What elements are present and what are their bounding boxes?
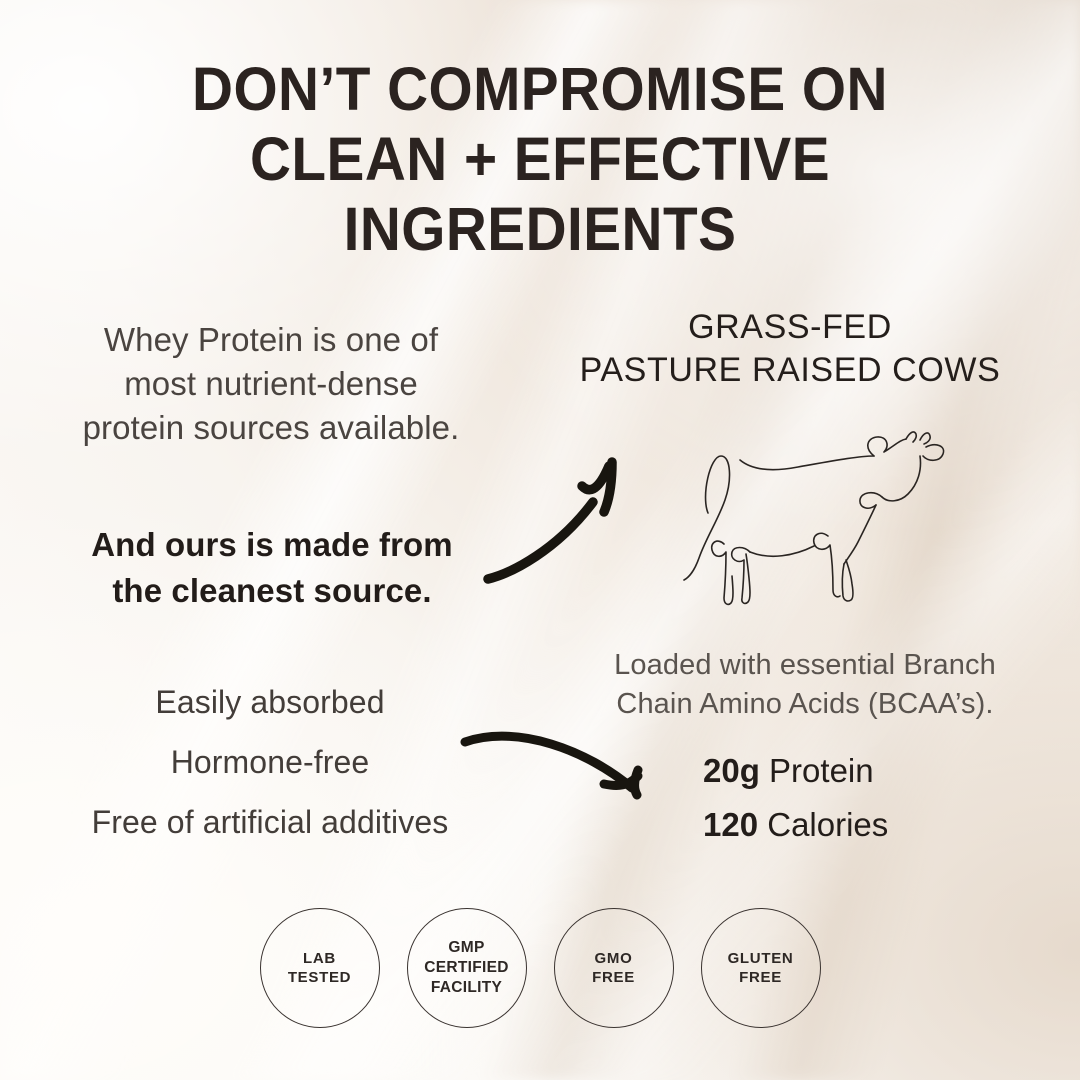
protein-label: Protein xyxy=(769,752,874,789)
arrow-down-right-icon xyxy=(432,712,677,822)
badge-gmo-free[interactable]: GMO FREE xyxy=(554,908,674,1028)
cleanest-source-line-2: the cleanest source. xyxy=(42,568,502,614)
badge-gmp-certified-facility[interactable]: GMP CERTIFIED FACILITY xyxy=(407,908,527,1028)
page-title: DON’T COMPROMISE ON CLEAN + EFFECTIVE IN… xyxy=(38,54,1042,264)
cleanest-source-line-1: And ours is made from xyxy=(42,522,502,568)
arrow-up-right-icon xyxy=(462,440,662,600)
infographic-canvas: DON’T COMPROMISE ON CLEAN + EFFECTIVE IN… xyxy=(0,0,1080,1080)
badge-lab-tested[interactable]: LAB TESTED xyxy=(260,908,380,1028)
certification-badges: LAB TESTED GMP CERTIFIED FACILITY GMO FR… xyxy=(0,908,1080,1028)
bcaa-line-1: Loaded with essential Branch xyxy=(570,646,1040,685)
headline-line-3: INGREDIENTS xyxy=(38,194,1042,264)
badge-line: FACILITY xyxy=(424,978,509,998)
whey-intro-line-1: Whey Protein is one of xyxy=(36,318,506,362)
badge-line: FREE xyxy=(728,968,794,987)
grass-fed-line-1: GRASS-FED xyxy=(540,306,1040,349)
badge-gluten-free[interactable]: GLUTEN FREE xyxy=(701,908,821,1028)
badge-line: LAB xyxy=(288,949,351,968)
cow-illustration xyxy=(668,418,968,618)
nutrition-row-protein: 20g Protein xyxy=(703,744,888,798)
grass-fed-line-2: PASTURE RAISED COWS xyxy=(540,349,1040,392)
whey-intro-line-3: protein sources available. xyxy=(36,406,506,450)
headline-line-1: DON’T COMPROMISE ON xyxy=(38,54,1042,124)
protein-value: 20g xyxy=(703,752,760,789)
whey-intro-line-2: most nutrient-dense xyxy=(36,362,506,406)
grass-fed-heading: GRASS-FED PASTURE RAISED COWS xyxy=(540,306,1040,392)
badge-line: GMP xyxy=(424,938,509,958)
badge-line: CERTIFIED xyxy=(424,958,509,978)
nutrition-facts: 20g Protein 120 Calories xyxy=(703,744,888,852)
headline-line-2: CLEAN + EFFECTIVE xyxy=(38,124,1042,194)
cleanest-source-statement: And ours is made from the cleanest sourc… xyxy=(42,522,502,614)
calories-label: Calories xyxy=(767,806,888,843)
calories-value: 120 xyxy=(703,806,758,843)
nutrition-row-calories: 120 Calories xyxy=(703,798,888,852)
badge-line: GLUTEN xyxy=(728,949,794,968)
badge-line: FREE xyxy=(592,968,635,987)
whey-intro-paragraph: Whey Protein is one of most nutrient-den… xyxy=(36,318,506,450)
badge-line: TESTED xyxy=(288,968,351,987)
badge-line: GMO xyxy=(592,949,635,968)
